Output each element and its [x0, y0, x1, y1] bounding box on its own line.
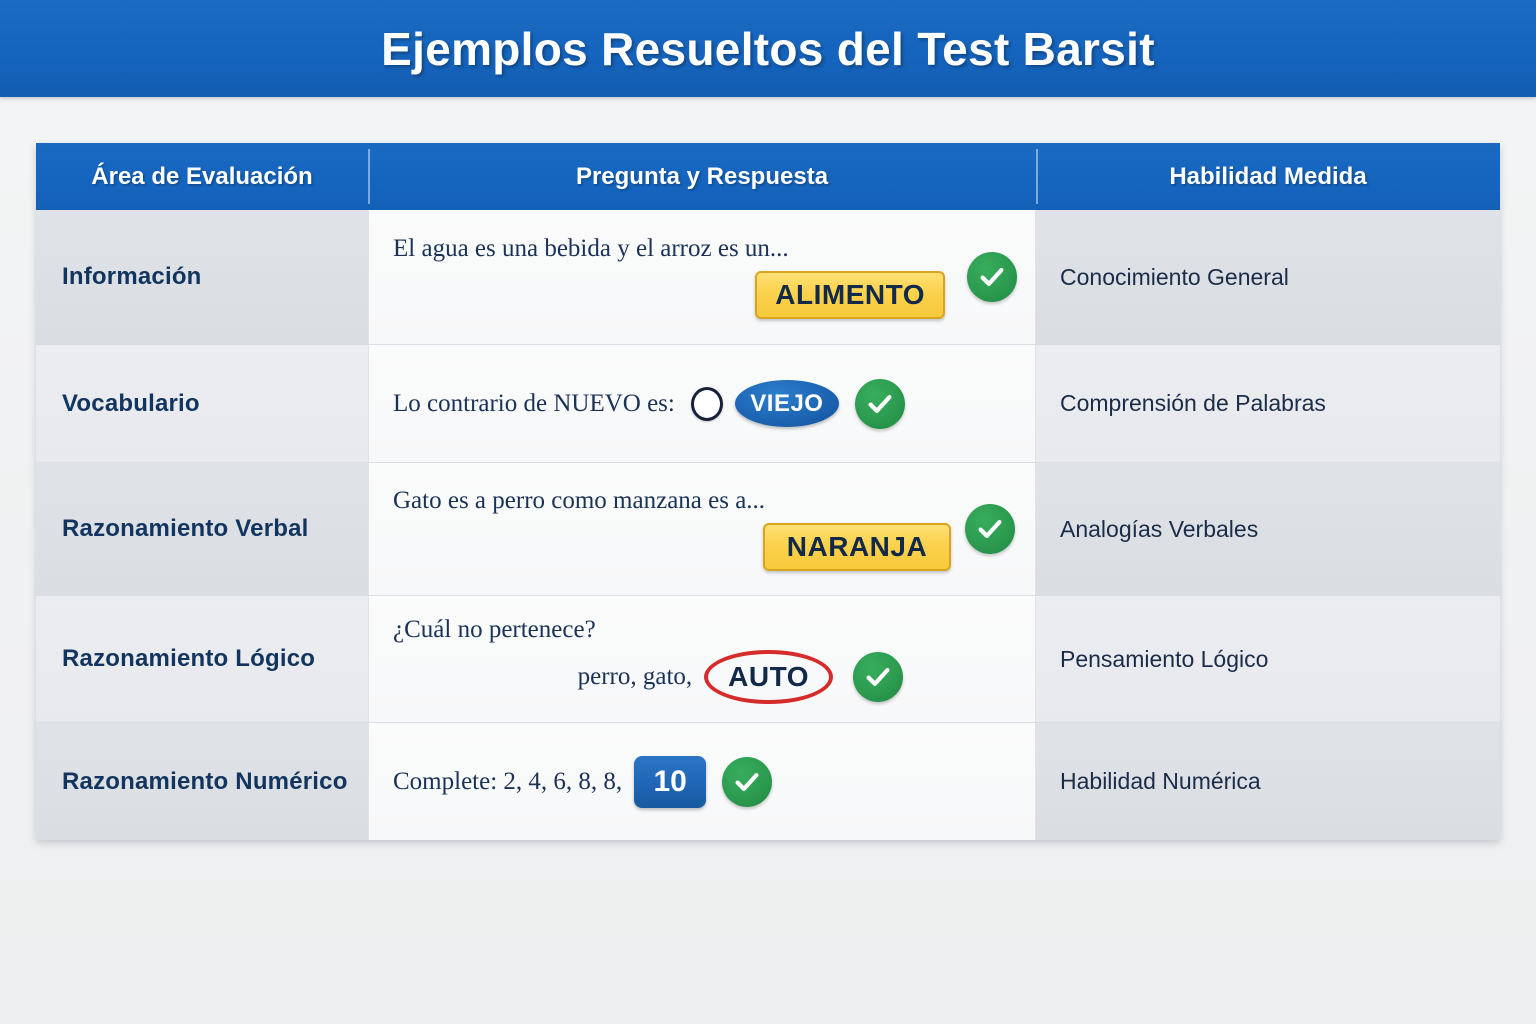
- column-header-area: Área de Evaluación: [36, 143, 368, 210]
- answer-line: ALIMENTO: [393, 271, 1013, 319]
- page-header-banner: Ejemplos Resueltos del Test Barsit: [0, 0, 1536, 97]
- table-row: Razonamiento Numérico Complete: 2, 4, 6,…: [36, 723, 1500, 840]
- answer-prefix-text: perro, gato,: [578, 663, 693, 691]
- answer-badge[interactable]: ALIMENTO: [755, 271, 945, 319]
- examples-table: Área de Evaluación Pregunta y Respuesta …: [36, 143, 1500, 840]
- question-line: El agua es una bebida y el arroz es un..…: [393, 235, 1013, 263]
- radio-option-icon[interactable]: [691, 387, 723, 421]
- row-skill-label: Analogías Verbales: [1036, 463, 1500, 595]
- table-header-row: Área de Evaluación Pregunta y Respuesta …: [36, 143, 1500, 210]
- row-question-cell: Lo contrario de NUEVO es: VIEJO: [368, 345, 1036, 462]
- row-area-label: Vocabulario: [36, 345, 368, 462]
- answer-badge[interactable]: AUTO: [704, 655, 833, 699]
- row-area-label: Razonamiento Numérico: [36, 723, 368, 840]
- row-skill-label: Habilidad Numérica: [1036, 723, 1500, 840]
- question-line: ¿Cuál no pertenece?: [393, 616, 1013, 644]
- column-header-skill: Habilidad Medida: [1036, 143, 1500, 210]
- question-text: Complete: 2, 4, 6, 8, 8,: [393, 768, 622, 796]
- question-line: Complete: 2, 4, 6, 8, 8, 10: [393, 756, 1013, 808]
- table-row: Razonamiento Verbal Gato es a perro como…: [36, 463, 1500, 596]
- question-text: ¿Cuál no pertenece?: [393, 616, 596, 644]
- question-text: Gato es a perro como manzana es a...: [393, 487, 765, 515]
- row-question-cell: Complete: 2, 4, 6, 8, 8, 10: [368, 723, 1036, 840]
- row-question-cell: Gato es a perro como manzana es a... NAR…: [368, 463, 1036, 595]
- row-area-label: Razonamiento Lógico: [36, 596, 368, 722]
- column-header-question: Pregunta y Respuesta: [368, 143, 1036, 210]
- page-title: Ejemplos Resueltos del Test Barsit: [381, 22, 1155, 76]
- answer-badge[interactable]: NARANJA: [763, 523, 951, 571]
- row-question-cell: El agua es una bebida y el arroz es un..…: [368, 210, 1036, 344]
- table-row: Vocabulario Lo contrario de NUEVO es: VI…: [36, 345, 1500, 463]
- check-circle-icon: [855, 379, 905, 429]
- question-line: Gato es a perro como manzana es a...: [393, 487, 1013, 515]
- question-text: Lo contrario de NUEVO es:: [393, 390, 675, 418]
- row-area-label: Razonamiento Verbal: [36, 463, 368, 595]
- check-circle-icon: [965, 504, 1015, 554]
- question-text: El agua es una bebida y el arroz es un..…: [393, 235, 789, 263]
- row-skill-label: Conocimiento General: [1036, 210, 1500, 344]
- answer-line: NARANJA: [393, 523, 1013, 571]
- answer-line: perro, gato, AUTO: [393, 652, 1013, 702]
- row-skill-label: Comprensión de Palabras: [1036, 345, 1500, 462]
- check-circle-icon: [722, 757, 772, 807]
- row-area-label: Información: [36, 210, 368, 344]
- question-line: Lo contrario de NUEVO es: VIEJO: [393, 379, 1013, 429]
- answer-badge[interactable]: 10: [634, 756, 706, 808]
- check-circle-icon: [853, 652, 903, 702]
- row-skill-label: Pensamiento Lógico: [1036, 596, 1500, 722]
- table-row: Información El agua es una bebida y el a…: [36, 210, 1500, 345]
- row-question-cell: ¿Cuál no pertenece? perro, gato, AUTO: [368, 596, 1036, 722]
- table-row: Razonamiento Lógico ¿Cuál no pertenece? …: [36, 596, 1500, 723]
- check-circle-icon: [967, 252, 1017, 302]
- answer-badge[interactable]: VIEJO: [735, 380, 839, 427]
